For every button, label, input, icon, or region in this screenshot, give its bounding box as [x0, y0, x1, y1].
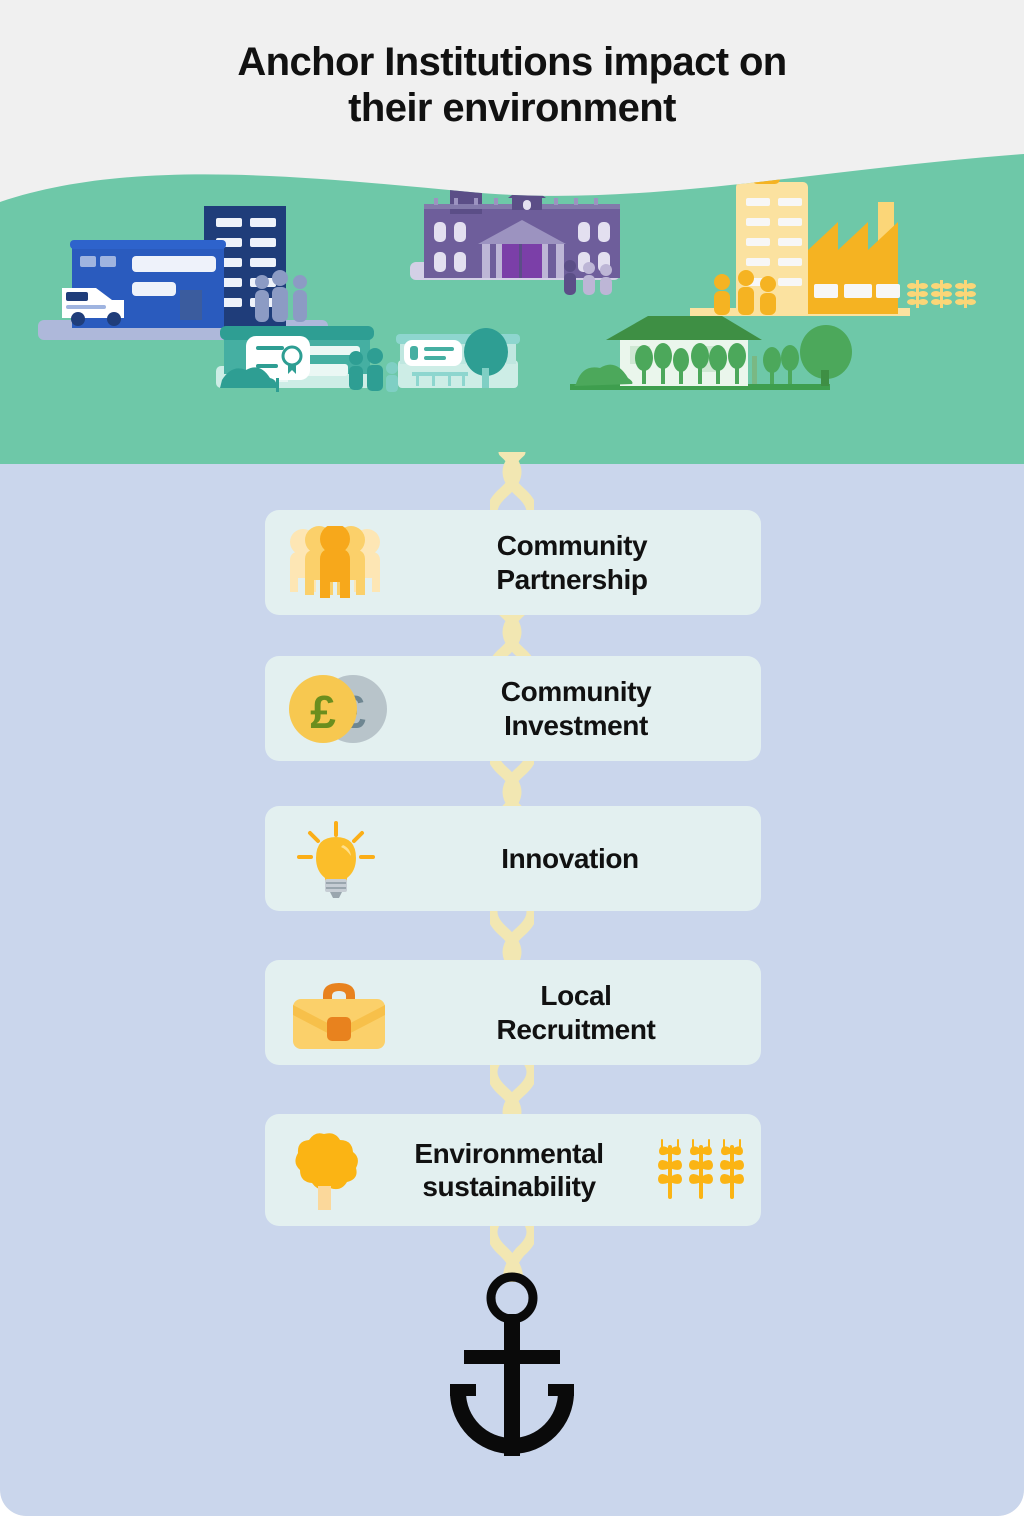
lightbulb-icon	[293, 819, 379, 899]
list-item-innovation[interactable]: Innovation	[265, 806, 761, 911]
list-item-label: Environmentalsustainability	[363, 1137, 655, 1203]
briefcase-icon	[287, 973, 391, 1053]
list-item-label: LocalRecruitment	[391, 979, 761, 1045]
list-item-community-partnership[interactable]: CommunityPartnership	[265, 510, 761, 615]
anchor-icon	[438, 1268, 586, 1468]
tree-icon	[285, 1128, 363, 1212]
svg-text:£: £	[310, 686, 336, 738]
list-item-environmental-sustainability[interactable]: Environmentalsustainability	[265, 1114, 761, 1226]
list-item-label: CommunityInvestment	[391, 675, 761, 741]
list-item-label: CommunityPartnership	[383, 529, 761, 595]
pound-coins-icon: £ £	[287, 670, 391, 748]
page-title: Anchor Institutions impact on their envi…	[0, 0, 1024, 172]
wheat-stalks-icon	[655, 1137, 747, 1203]
townscape-illustration	[0, 140, 1024, 470]
list-item-local-recruitment[interactable]: LocalRecruitment	[265, 960, 761, 1065]
list-item-community-investment[interactable]: £ £ CommunityInvestment	[265, 656, 761, 761]
people-group-icon	[287, 526, 383, 600]
page-title-line-2: their environment	[348, 86, 676, 132]
list-item-label: Innovation	[379, 842, 761, 875]
infographic-page: Anchor Institutions impact on their envi…	[0, 0, 1024, 1516]
page-title-line-1: Anchor Institutions impact on	[237, 40, 786, 86]
